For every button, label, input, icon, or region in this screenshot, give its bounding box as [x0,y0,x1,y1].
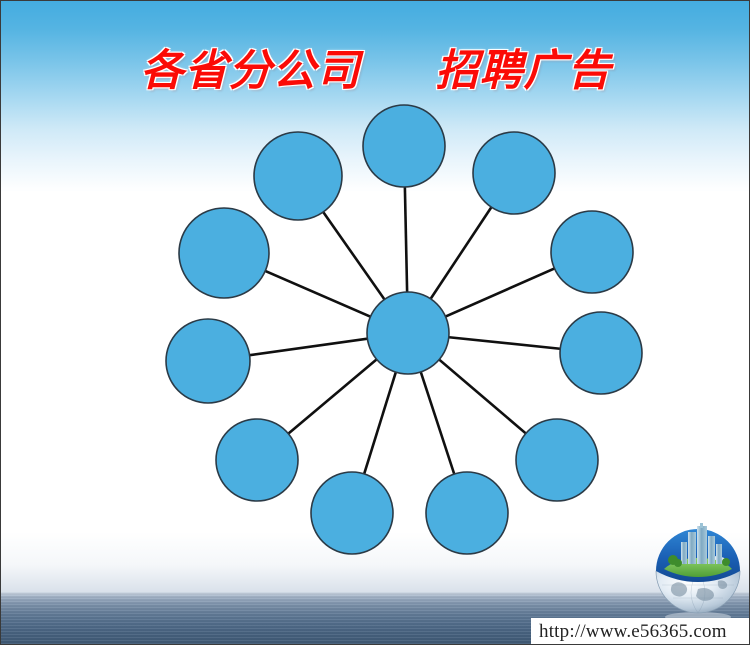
spoke-line-node-5 [438,359,526,434]
spoke-line-node-7 [364,371,396,475]
diagram-node-node-8[interactable] [216,419,298,501]
diagram-node-node-4[interactable] [560,312,642,394]
hub-layer [367,292,449,374]
spoke-line-node-8 [288,359,378,435]
diagram-node-node-6[interactable] [426,472,508,554]
diagram-hub-node[interactable] [367,292,449,374]
diagram-node-node-10[interactable] [179,208,269,298]
spoke-line-node-1 [405,186,407,293]
title-part-recruitment: 招聘广告 [435,36,611,98]
diagram-node-node-3[interactable] [551,211,633,293]
spoke-line-node-11 [323,211,385,300]
diagram-node-node-1[interactable] [363,105,445,187]
watermark-url: http://www.e56365.com [539,621,727,643]
slide-canvas: 各省分公司 招聘广告 [0,0,750,645]
title-part-company: 各省分公司 [141,36,361,98]
spoke-line-node-6 [420,371,454,475]
spoke-line-node-2 [430,206,492,299]
diagram-node-node-7[interactable] [311,472,393,554]
watermark-box: http://www.e56365.com [531,618,750,645]
spoke-line-node-10 [264,271,371,318]
diagram-node-node-2[interactable] [473,132,555,214]
slide-title: 各省分公司 招聘广告 [1,36,750,98]
globe-city-logo-icon [646,523,750,623]
spoke-line-node-9 [249,339,369,356]
diagram-node-node-9[interactable] [166,319,250,403]
spoke-line-node-3 [445,268,556,317]
diagram-node-node-11[interactable] [254,132,342,220]
diagram-node-node-5[interactable] [516,419,598,501]
spoke-line-node-4 [448,337,561,349]
